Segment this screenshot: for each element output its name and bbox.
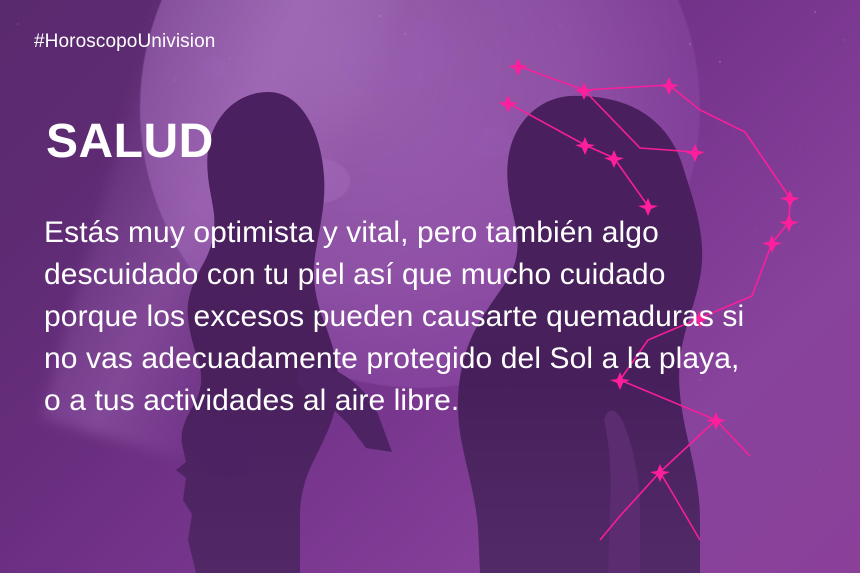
horoscope-body-text: Estás muy optimista y vital, pero tambié… bbox=[44, 212, 834, 422]
hashtag-label: #HoroscopoUnivision bbox=[34, 31, 215, 53]
constellation-star bbox=[604, 150, 624, 168]
constellation-star bbox=[780, 190, 800, 208]
constellation-star bbox=[508, 58, 528, 76]
horoscope-card: #HoroscopoUnivision SALUD Estás muy opti… bbox=[0, 0, 860, 573]
constellation-star bbox=[575, 137, 595, 155]
constellation-star bbox=[685, 144, 705, 162]
constellation-star bbox=[498, 95, 518, 113]
constellation-star bbox=[659, 77, 679, 95]
page-title: SALUD bbox=[46, 118, 214, 166]
